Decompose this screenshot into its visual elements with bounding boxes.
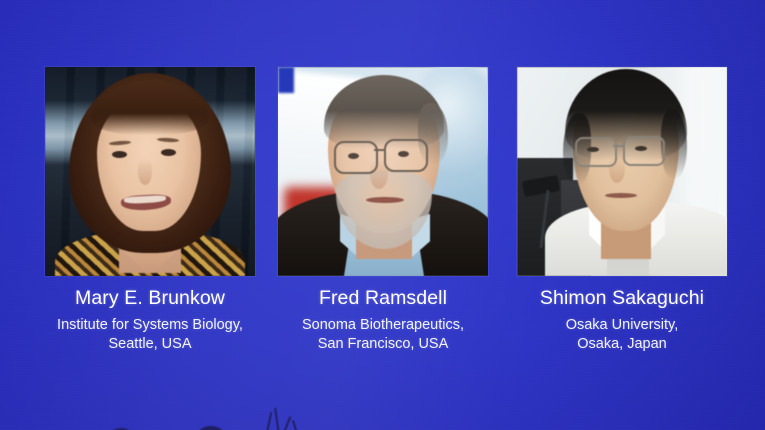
laureate-affiliation: Institute for Systems Biology, Seattle, … [30,316,270,354]
eyeglass-lens-right [384,139,428,172]
laureate-name: Fred Ramsdell [263,286,503,310]
eyeglass-bridge [613,145,623,147]
laureate-card [517,67,727,276]
affiliation-line-1: Osaka University, [502,316,742,335]
laureate-caption-3: Shimon Sakaguchi Osaka University, Osaka… [502,286,742,354]
laureate-card [45,67,255,276]
affiliation-line-2: San Francisco, USA [263,335,503,354]
laureate-card [278,67,488,276]
eyeglass-lens-right [623,136,665,166]
eyeglass-lens-left [334,141,378,174]
eyeglass-lens-left [575,137,617,167]
portrait-figure [278,67,488,276]
eye-left [112,151,127,158]
eyeglass-bridge [374,149,386,151]
nose [138,159,152,185]
laureate-grid [0,0,765,430]
mouth [366,197,404,203]
laureate-caption-1: Mary E. Brunkow Institute for Systems Bi… [30,286,270,354]
laureate-caption-2: Fred Ramsdell Sonoma Biotherapeutics, Sa… [263,286,503,354]
presentation-slide: Mary E. Brunkow Institute for Systems Bi… [0,0,765,430]
mouth [605,193,637,198]
portrait-photo-2 [278,67,488,276]
laureate-affiliation: Osaka University, Osaka, Japan [502,316,742,354]
laureate-name: Mary E. Brunkow [30,286,270,310]
portrait-photo-1 [45,67,255,276]
portrait-photo-3 [517,67,727,276]
laureate-name: Shimon Sakaguchi [502,286,742,310]
affiliation-line-1: Institute for Systems Biology, [30,316,270,335]
portrait-figure [517,67,727,276]
affiliation-line-2: Osaka, Japan [502,335,742,354]
eye-right [161,149,176,156]
laureate-affiliation: Sonoma Biotherapeutics, San Francisco, U… [263,316,503,354]
affiliation-line-1: Sonoma Biotherapeutics, [263,316,503,335]
affiliation-line-2: Seattle, USA [30,335,270,354]
portrait-figure [45,67,255,276]
